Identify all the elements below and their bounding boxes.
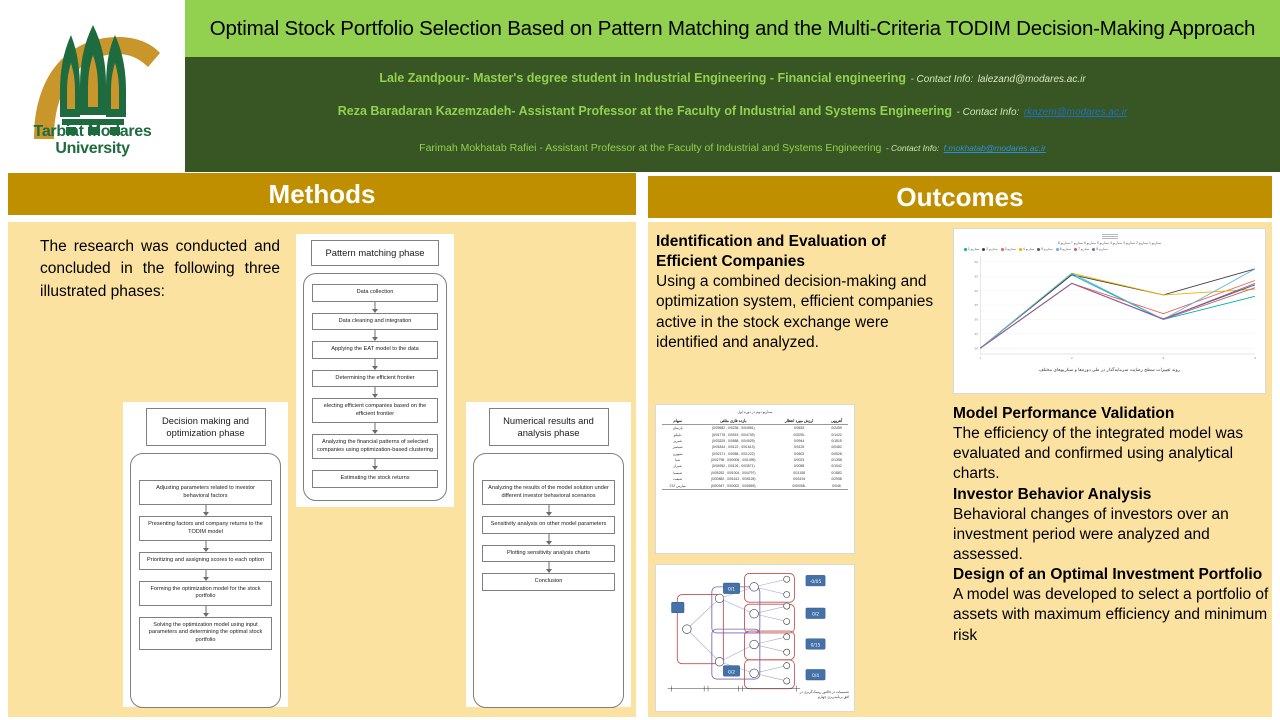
flow-step: Forming the optimization model for the s…	[139, 581, 272, 606]
leaf-value: -0/05	[810, 579, 822, 585]
flow-arrow-icon	[312, 302, 438, 313]
flow-step: Adjusting parameters related to investor…	[139, 480, 272, 505]
x-axis-tick: 3	[1162, 356, 1164, 360]
author-contact-label: - Contact Info:	[956, 107, 1019, 118]
legend-item[interactable]: سناریو 5	[1037, 247, 1052, 251]
logo-graphic: Tarbiat Modares University	[18, 11, 168, 161]
flowchart-title: Pattern matching phase	[311, 240, 439, 266]
table-column-header: بازده فازی مثلثی	[693, 416, 773, 425]
flow-step: Solving the optimization model using inp…	[139, 617, 272, 650]
outcome-heading: Investor Behavior Analysis	[953, 485, 1273, 505]
table-header-row: آنتروپیارزش مورد انتظاربازده فازی مثلثیس…	[662, 416, 848, 425]
logo-label-line2: University	[18, 141, 168, 157]
flow-step: Prioritizing and assigning scores to eac…	[139, 552, 272, 570]
flow-step: Sensitivity analysis on other model para…	[482, 516, 615, 534]
flow-arrow-icon	[482, 562, 615, 573]
y-axis-tick: 50	[974, 260, 978, 264]
flow-step: electing efficient companies based on th…	[312, 398, 438, 423]
legend-label: سناریو 8	[1096, 247, 1107, 251]
flow-step: Determining the efficient frontier	[312, 370, 438, 388]
y-axis-tick: 25	[974, 332, 978, 336]
leaf-value: 0/4	[812, 673, 819, 679]
flow-arrow-icon	[482, 505, 615, 516]
table-cell: 0/2459	[825, 425, 848, 432]
flow-step: Analyzing the financial patterns of sele…	[312, 434, 438, 459]
flow-step: Presenting factors and company returns t…	[139, 516, 272, 541]
poster-title-bar: Optimal Stock Portfolio Selection Based …	[185, 0, 1280, 57]
flow-step: Conclusion	[482, 573, 615, 591]
flow-arrow-icon	[312, 387, 438, 398]
y-axis-tick: 20	[974, 347, 978, 351]
results-table: آنتروپیارزش مورد انتظاربازده فازی مثلثیس…	[662, 416, 848, 490]
y-axis-tick: 45	[974, 275, 978, 279]
legend-item[interactable]: سناریو 4	[1019, 247, 1034, 251]
logo-label: Tarbiat Modares University	[18, 124, 168, 157]
outcome-body: Using a combined decision-making and opt…	[656, 272, 949, 353]
outcome-heading: Design of an Optimal Investment Portfoli…	[953, 565, 1273, 585]
satisfaction-trend-chart: سناریو 1 سناریو 2 سناریو 3 سناریو 4 سنار…	[953, 228, 1266, 394]
section-title-outcomes: Outcomes	[896, 182, 1023, 213]
legend-item[interactable]: سناریو 2	[982, 247, 997, 251]
chart-menu-icon[interactable]	[1102, 234, 1118, 237]
table-cell: -0/00058	[773, 482, 825, 489]
outcome-heading: Model Performance Validation	[953, 404, 1273, 424]
table-body: 0/24590/0633(0/04981 , 0/0236 , 0/09582)…	[662, 425, 848, 490]
outcome-body: Behavioral changes of investors over an …	[953, 505, 1273, 565]
network-caption: تصمیمات در فاکتور ریسک‌گریزی در افق برنا…	[797, 690, 849, 699]
flowchart-body: Data collection Data cleaning and integr…	[303, 273, 447, 501]
legend-item[interactable]: سناریو 7	[1074, 247, 1089, 251]
author-row: Farimah Mokhatab Rafiei - Assistant Prof…	[193, 138, 1272, 156]
flow-step: Applying the EAT model to the data	[312, 341, 438, 359]
author-name: Lale Zandpour- Master's degree student i…	[379, 71, 906, 85]
x-axis-tick: 1	[979, 356, 981, 360]
flowchart-title: Numerical results and analysis phase	[489, 408, 609, 446]
chart-series-line	[980, 269, 1255, 348]
section-header-methods: Methods	[8, 173, 636, 215]
flow-arrow-icon	[139, 570, 272, 581]
table-cell: 0/046	[825, 482, 848, 489]
author-email-link[interactable]: rkazem@modares.ac.ir	[1024, 107, 1128, 118]
outcomes-panel: Identification and Evaluation of Efficie…	[648, 222, 1272, 717]
x-axis-tick: 4	[1254, 356, 1256, 360]
legend-label: سناریو 3	[1005, 247, 1016, 251]
flowchart-numerical-results: Numerical results and analysis phase Ana…	[466, 402, 631, 707]
flow-arrow-icon	[482, 534, 615, 545]
methods-intro-text: The research was conducted and concluded…	[40, 236, 280, 303]
flowchart-pattern-matching: Pattern matching phase Data collection D…	[296, 234, 454, 507]
table-cell: (0/00569 , 0/00002 , 0/00947)	[693, 482, 773, 489]
flow-arrow-icon	[139, 541, 272, 552]
table-column-header: سهام	[662, 416, 693, 425]
node-value: 0/1	[728, 587, 735, 593]
section-title-methods: Methods	[269, 179, 376, 210]
flow-arrow-icon	[312, 423, 438, 434]
chart-svg: 202530354045501234	[958, 252, 1261, 364]
author-name: Reza Baradaran Kazemzadeh- Assistant Pro…	[338, 104, 952, 118]
poster-root: Tarbiat Modares University Optimal Stock…	[0, 0, 1280, 720]
author-row: Lale Zandpour- Master's degree student i…	[193, 69, 1272, 87]
x-axis-tick: 2	[1071, 356, 1073, 360]
flow-arrow-icon	[312, 330, 438, 341]
table-column-header: آنتروپی	[825, 416, 848, 425]
flow-step: Plotting sensitivity analysis charts	[482, 545, 615, 563]
chart-caption: روند تغییرات سطح رضایت سرمایه‌گذار در طی…	[958, 367, 1261, 373]
author-name: Farimah Mokhatab Rafiei - Assistant Prof…	[419, 142, 881, 154]
outcome-body: The efficiency of the integrated model w…	[953, 424, 1273, 484]
outcome-heading: Identification and Evaluation of Efficie…	[656, 232, 949, 272]
author-contact-label: - Contact Info:	[910, 74, 973, 85]
legend-label: سناریو 7	[1078, 247, 1089, 251]
logo-label-line1: Tarbiat Modares	[18, 124, 168, 140]
table-column-header: ارزش مورد انتظار	[773, 416, 825, 425]
table-cell: 0/0633	[773, 425, 825, 432]
section-header-outcomes: Outcomes	[648, 176, 1272, 218]
chart-series-line	[980, 274, 1255, 349]
chart-legend-title: سناریو 1 سناریو 2 سناریو 3 سناریو 4 سنار…	[958, 241, 1261, 245]
outcome-body: A model was developed to select a portfo…	[953, 585, 1273, 645]
legend-label: سناریو 4	[1023, 247, 1034, 251]
table-cell: پارسان	[662, 425, 693, 432]
leaf-value: 0/15	[811, 642, 821, 648]
flow-step: Analyzing the results of the model solut…	[482, 480, 615, 505]
flow-arrow-icon	[312, 359, 438, 370]
chart-series-line	[980, 284, 1255, 349]
legend-label: سناریو 5	[1041, 247, 1052, 251]
flowchart-decision-making: Decision making and optimization phase A…	[123, 402, 288, 707]
chart-legend: سناریو 1 سناریو 2 سناریو 3 سناریو 4 سنار…	[964, 247, 1261, 251]
author-contact-label: - Contact Info:	[886, 143, 939, 153]
author-row: Reza Baradaran Kazemzadeh- Assistant Pro…	[193, 102, 1272, 120]
university-logo: Tarbiat Modares University	[0, 0, 185, 172]
chart-series-line	[980, 284, 1255, 349]
table-row: 0/24590/0633(0/04981 , 0/0236 , 0/09582)…	[662, 425, 848, 432]
y-axis-tick: 40	[974, 289, 978, 293]
flow-arrow-icon	[139, 505, 272, 516]
poster-title: Optimal Stock Portfolio Selection Based …	[210, 16, 1255, 41]
legend-item[interactable]: سناریو 3	[1001, 247, 1016, 251]
flowchart-title: Decision making and optimization phase	[146, 408, 266, 446]
authors-bar: Lale Zandpour- Master's degree student i…	[185, 57, 1280, 172]
legend-label: سناریو 6	[1060, 247, 1071, 251]
outcomes-right-column: Model Performance Validation The efficie…	[953, 404, 1273, 646]
table-caption: سناریو دوم در دوره اول	[662, 410, 848, 414]
outcomes-left-column: Identification and Evaluation of Efficie…	[656, 232, 949, 353]
author-email: lalezand@modares.ac.ir	[978, 74, 1086, 85]
scenario-tree-diagram: 0/1 0/2 -0/05 0/2 0/15 0/4 تصمیما	[655, 564, 855, 712]
chart-toolbar	[958, 233, 1261, 240]
table-cell: مبارس 212	[662, 482, 693, 489]
flow-step: Data cleaning and integration	[312, 313, 438, 331]
leaf-value: 0/2	[812, 612, 819, 618]
node-value: 0/2	[728, 669, 735, 675]
author-email-link[interactable]: f.mokhatab@modares.ac.ir	[944, 143, 1046, 153]
flowchart-body: Adjusting parameters related to investor…	[130, 453, 281, 708]
y-axis-tick: 30	[974, 318, 978, 322]
flow-step: Data collection	[312, 284, 438, 302]
chart-series-line	[980, 275, 1255, 349]
legend-item[interactable]: سناریو 6	[1056, 247, 1071, 251]
legend-label: سناریو 1	[968, 247, 979, 251]
legend-label: سناریو 2	[986, 247, 997, 251]
legend-item[interactable]: سناریو 8	[1092, 247, 1107, 251]
table-row: 0/046-0/00058(0/00569 , 0/00002 , 0/0094…	[662, 482, 848, 489]
table-cell: (0/04981 , 0/0236 , 0/09582)	[693, 425, 773, 432]
chart-series-line	[980, 284, 1255, 349]
y-axis-tick: 35	[974, 304, 978, 308]
scenario-results-table: سناریو دوم در دوره اول آنتروپیارزش مورد …	[655, 404, 855, 554]
flowchart-body: Analyzing the results of the model solut…	[473, 453, 624, 708]
chart-plot-area: 202530354045501234	[958, 252, 1261, 364]
scenario-tree-svg: 0/1 0/2 -0/05 0/2 0/15 0/4	[660, 569, 852, 695]
flow-step: Estimating the stock returns	[312, 470, 438, 488]
legend-item[interactable]: سناریو 1	[964, 247, 979, 251]
flow-arrow-icon	[139, 606, 272, 617]
methods-panel: The research was conducted and concluded…	[8, 222, 636, 717]
flow-arrow-icon	[312, 459, 438, 470]
